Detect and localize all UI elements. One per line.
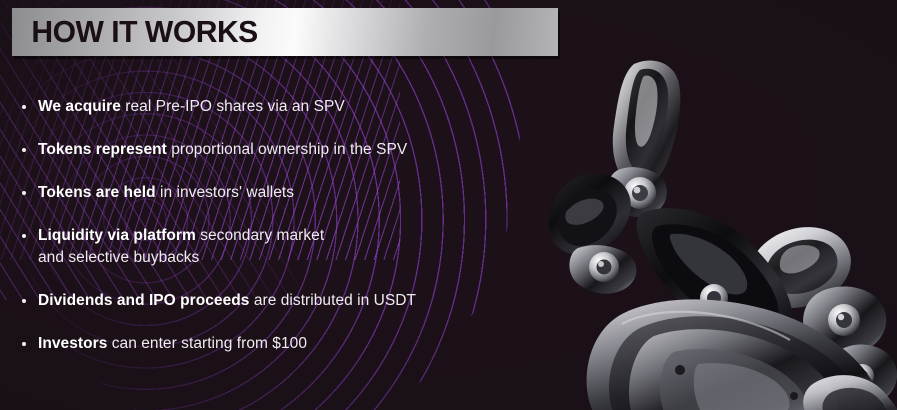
list-item: Tokens are held in investors' wallets bbox=[22, 182, 562, 204]
bullet-dot-icon bbox=[22, 148, 26, 152]
how-it-works-bullet-list: We acquire real Pre-IPO shares via an SP… bbox=[22, 96, 562, 376]
list-item: We acquire real Pre-IPO shares via an SP… bbox=[22, 96, 562, 118]
list-item: Liquidity via platform secondary marketa… bbox=[22, 225, 562, 269]
list-item: Dividends and IPO proceeds are distribut… bbox=[22, 290, 562, 312]
list-item-text: Investors can enter starting from $100 bbox=[38, 333, 307, 355]
list-item-rest: are distributed in USDT bbox=[249, 292, 416, 309]
list-item-rest: secondary market bbox=[196, 227, 324, 244]
list-item-lead: Tokens are held bbox=[38, 184, 156, 201]
list-item-rest: in investors' wallets bbox=[156, 184, 294, 201]
list-item-lead: Tokens represent bbox=[38, 141, 167, 158]
page-title: HOW IT WORKS bbox=[12, 14, 258, 50]
list-item-text: Liquidity via platform secondary marketa… bbox=[38, 225, 324, 269]
list-item-lead: We acquire bbox=[38, 98, 121, 115]
list-item-rest: real Pre-IPO shares via an SPV bbox=[121, 98, 345, 115]
robotic-hand-icon bbox=[548, 52, 897, 410]
list-item-text: We acquire real Pre-IPO shares via an SP… bbox=[38, 96, 345, 118]
list-item: Tokens represent proportional ownership … bbox=[22, 139, 562, 161]
list-item-text: Tokens represent proportional ownership … bbox=[38, 139, 407, 161]
section-title-bar: HOW IT WORKS bbox=[12, 8, 558, 56]
bullet-dot-icon bbox=[22, 234, 26, 238]
list-item-second-line: and selective buybacks bbox=[38, 247, 324, 269]
bullet-dot-icon bbox=[22, 299, 26, 303]
list-item-lead: Liquidity via platform bbox=[38, 227, 196, 244]
list-item-text: Tokens are held in investors' wallets bbox=[38, 182, 294, 204]
bullet-dot-icon bbox=[22, 342, 26, 346]
bullet-dot-icon bbox=[22, 105, 26, 109]
list-item-rest: proportional ownership in the SPV bbox=[167, 141, 407, 158]
slide-canvas: HOW IT WORKS We acquire real Pre-IPO sha… bbox=[0, 0, 897, 410]
list-item-lead: Dividends and IPO proceeds bbox=[38, 292, 249, 309]
list-item-lead: Investors bbox=[38, 335, 107, 352]
list-item-text: Dividends and IPO proceeds are distribut… bbox=[38, 290, 416, 312]
bullet-dot-icon bbox=[22, 191, 26, 195]
list-item-rest: can enter starting from $100 bbox=[107, 335, 307, 352]
list-item: Investors can enter starting from $100 bbox=[22, 333, 562, 355]
